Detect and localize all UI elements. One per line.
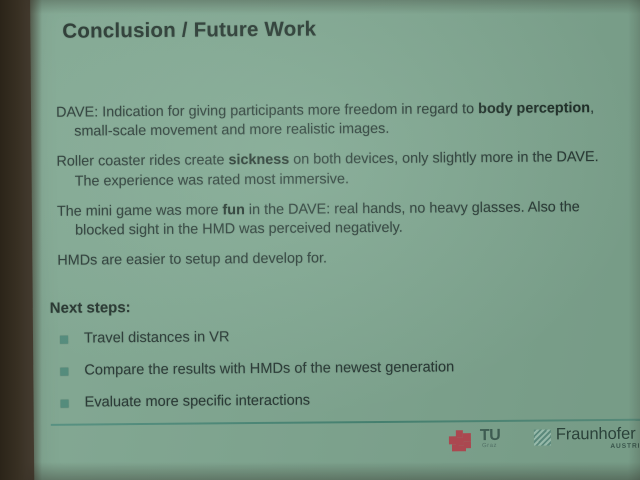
list-item: Compare the results with HMDs of the new… [50, 357, 610, 381]
list-item-label: Evaluate more specific interactions [85, 392, 311, 413]
emphasis-text: sickness [228, 152, 289, 169]
emphasis-text: fun [222, 202, 245, 218]
tu-graz-subtitle: Graz [482, 443, 497, 449]
page-title: Conclusion / Future Work [62, 18, 316, 44]
paragraph-roller-coaster: Roller coaster rides create sickness on … [56, 148, 626, 192]
paragraph-text: The mini game was more [57, 202, 223, 219]
next-steps-list: Travel distances in VR Compare the resul… [50, 325, 611, 426]
paragraph-text: HMDs are easier to setup and develop for… [57, 250, 327, 268]
fraunhofer-hatched-square-icon [534, 429, 551, 445]
emphasis-text: body perception [478, 100, 590, 117]
slide-body: DAVE: Indication for giving participants… [56, 99, 628, 282]
slide-content: Conclusion / Future Work DAVE: Indicatio… [30, 0, 640, 480]
paragraph-text: Roller coaster rides create [56, 153, 228, 171]
paragraph-dave: DAVE: Indication for giving participants… [56, 99, 626, 143]
list-item: Travel distances in VR [50, 325, 610, 349]
paragraph-hmds: HMDs are easier to setup and develop for… [57, 247, 627, 271]
list-item-label: Compare the results with HMDs of the new… [84, 358, 454, 380]
next-steps-heading: Next steps: [50, 299, 131, 317]
fraunhofer-wordmark: Fraunhofer [556, 425, 636, 445]
fraunhofer-logo: Fraunhofer AUSTRIA [534, 427, 640, 458]
square-bullet-icon [60, 368, 68, 376]
presentation-slide: Conclusion / Future Work DAVE: Indicatio… [30, 0, 640, 480]
paragraph-mini-game: The mini game was more fun in the DAVE: … [57, 197, 627, 241]
paragraph-text: DAVE: Indication for giving participants… [56, 101, 478, 121]
footer-logos: TU Graz Fraunhofer AUSTRIA [449, 427, 640, 459]
tu-graz-logo: TU Graz [449, 428, 527, 459]
projected-slide-photo: Conclusion / Future Work DAVE: Indicatio… [0, 0, 640, 480]
tu-graz-pixel-cross-icon [449, 430, 479, 452]
list-item-label: Travel distances in VR [84, 328, 230, 348]
square-bullet-icon [60, 336, 68, 344]
fraunhofer-subtitle: AUSTRIA [610, 443, 640, 450]
square-bullet-icon [61, 400, 69, 408]
list-item: Evaluate more specific interactions [51, 389, 611, 413]
